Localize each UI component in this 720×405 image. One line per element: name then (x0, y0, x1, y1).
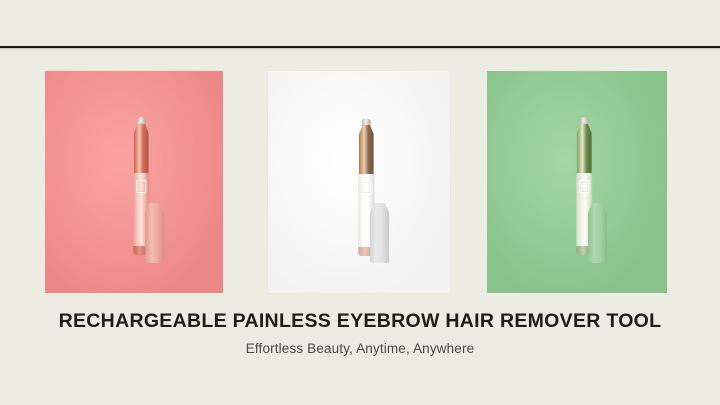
caption-block: RECHARGEABLE PAINLESS EYEBROW HAIR REMOV… (0, 310, 720, 356)
product-panel-green[interactable] (487, 71, 667, 293)
trimmer-cap-green (588, 203, 607, 263)
product-subtitle: Effortless Beauty, Anytime, Anywhere (0, 341, 720, 356)
trimmer-head (359, 125, 374, 177)
power-button-icon (361, 181, 371, 194)
product-banner: RECHARGEABLE PAINLESS EYEBROW HAIR REMOV… (0, 0, 720, 405)
head-shine (359, 125, 374, 177)
product-panel-pink[interactable] (45, 71, 223, 293)
trimmer-cap-white (370, 203, 389, 263)
trimmer-head (134, 124, 149, 176)
product-title: RECHARGEABLE PAINLESS EYEBROW HAIR REMOV… (0, 310, 720, 332)
header-divider-shadow (0, 48, 720, 50)
product-panel-white[interactable] (268, 71, 450, 293)
power-button-icon (579, 180, 589, 193)
product-image-row (0, 71, 720, 293)
head-shine (134, 124, 149, 176)
trimmer-head (577, 124, 592, 176)
power-button-icon (136, 180, 146, 193)
head-shine (577, 124, 592, 176)
trimmer-cap-pink (145, 203, 164, 263)
